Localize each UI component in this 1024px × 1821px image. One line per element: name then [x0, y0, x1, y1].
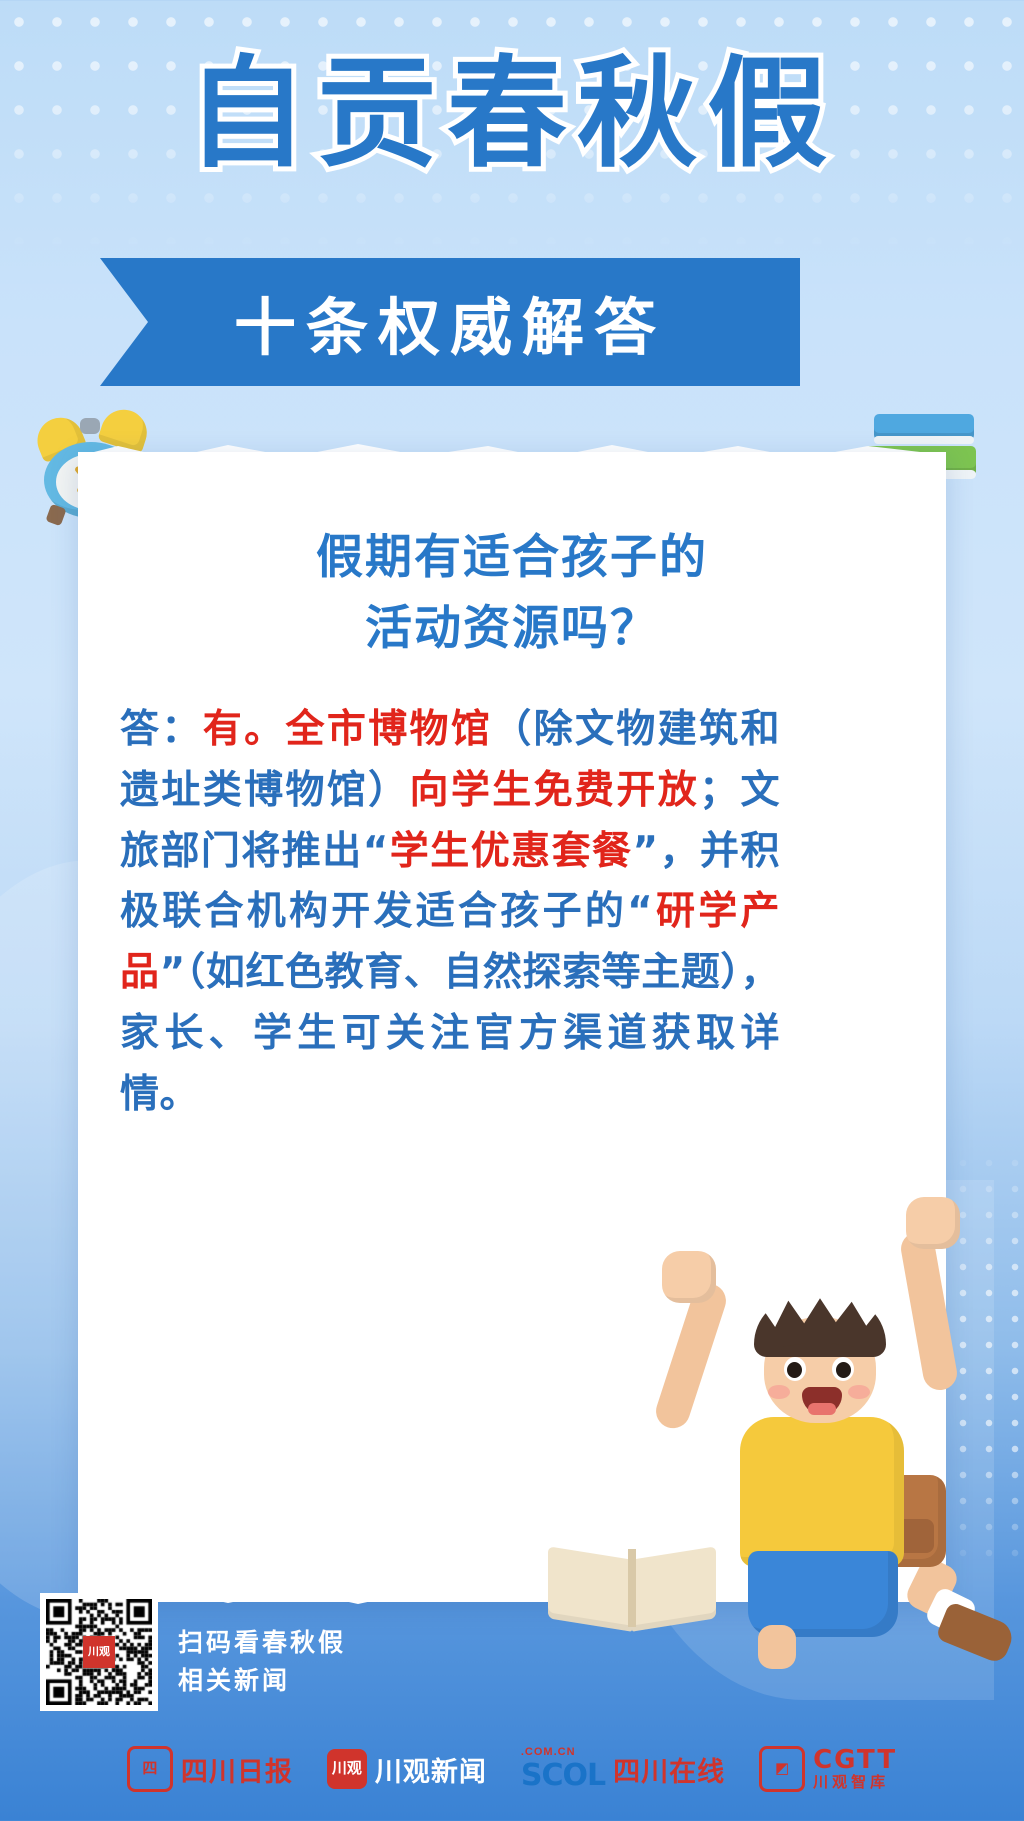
answer-paragraph: 答：有。全市博物馆（除文物建筑和遗址类博物馆）向学生免费开放；文旅部门将推出“学… — [120, 700, 780, 1126]
cgtt-mark-label: CGTT — [813, 1746, 897, 1775]
answer-segment: 有。全市博物馆 — [203, 707, 493, 752]
chuanguan-mark-icon: 川观 — [327, 1749, 367, 1789]
sichuan-daily-mark-icon: 四 — [127, 1746, 173, 1792]
qr-caption-line-2: 相关新闻 — [178, 1662, 438, 1700]
logo-chuanguan-news: 川观 川观新闻 — [327, 1749, 487, 1789]
logo-label: 川观新闻 — [375, 1750, 487, 1789]
answer-segment: 学生优惠套餐 — [389, 829, 633, 874]
qr-caption: 扫码看春秋假 相关新闻 — [178, 1624, 438, 1699]
publisher-logo-bar: 四 四川日报 川观 川观新闻 .COM.CN SCOL 四川在线 ◩ CGTT … — [0, 1739, 1024, 1799]
answer-segment: 向学生免费开放 — [410, 768, 700, 813]
question-line-1: 假期有适合孩子的 — [78, 522, 946, 593]
ribbon-banner-label: 十条权威解答 — [100, 258, 800, 386]
answer-segment: 答： — [120, 707, 203, 752]
scol-mark-icon: SCOL — [521, 1759, 605, 1792]
question-heading: 假期有适合孩子的 活动资源吗？ — [78, 522, 946, 665]
cgtt-cube-icon: ◩ — [759, 1746, 805, 1792]
qr-code-icon[interactable]: 川观 — [40, 1593, 158, 1711]
logo-cgtt: ◩ CGTT 川观智库 — [759, 1746, 897, 1792]
question-line-2: 活动资源吗？ — [78, 593, 946, 664]
logo-label: 四川在线 — [613, 1750, 725, 1789]
logo-sichuan-daily: 四 四川日报 — [127, 1746, 293, 1792]
qr-center-label: 川观 — [83, 1636, 115, 1668]
logo-scol: .COM.CN SCOL 四川在线 — [521, 1746, 725, 1791]
logo-label: 四川日报 — [181, 1750, 293, 1789]
cheering-boy-icon — [636, 1189, 1006, 1669]
scol-domain-label: .COM.CN — [521, 1746, 605, 1758]
answer-segment: ”（如红色教育、自然探索等主题），家长、学生可关注官方渠道获取详情。 — [120, 950, 780, 1117]
cgtt-sub-label: 川观智库 — [813, 1775, 897, 1792]
qr-caption-line-1: 扫码看春秋假 — [178, 1624, 438, 1662]
page-title: 自贡春秋假 — [0, 52, 1024, 178]
